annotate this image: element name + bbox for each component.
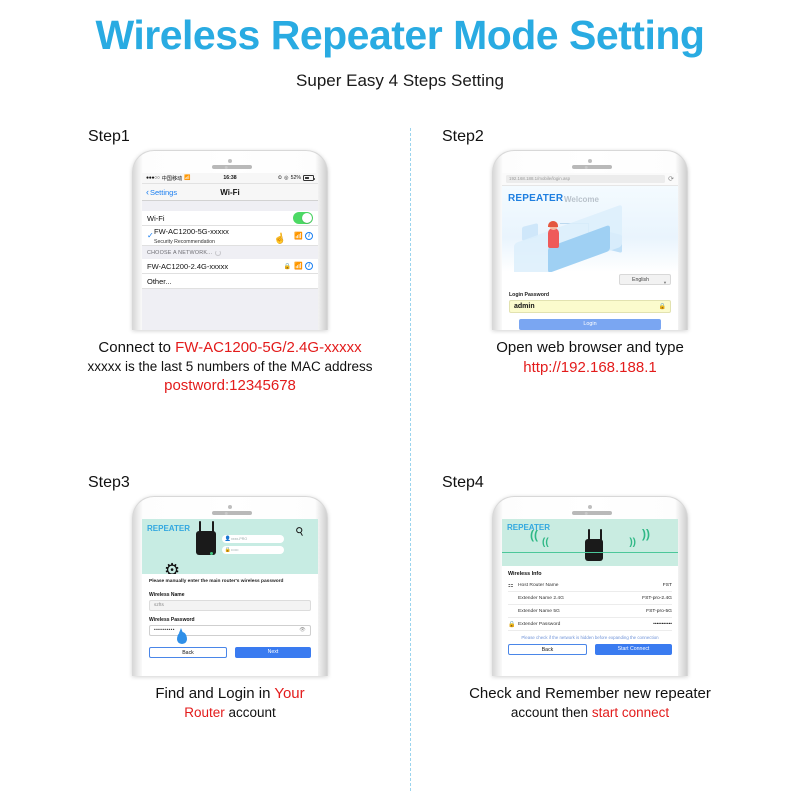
wireless-name-input[interactable]: szfts <box>149 600 311 611</box>
router-icon: ⚏ <box>508 582 517 589</box>
mini-username-value: xxxx-PRO <box>231 537 247 541</box>
extender-device-icon <box>196 531 216 555</box>
browser-address-bar: 192.168.188.1/mobile/login.asp ⟳ <box>502 173 678 186</box>
login-form: English ▼ Login Password admin 🔒 Login <box>502 272 678 330</box>
user-icon: 👤 <box>225 536 231 542</box>
list-gap <box>142 201 318 211</box>
login-password-input[interactable]: admin 🔒 <box>509 300 671 313</box>
reload-icon[interactable]: ⟳ <box>668 175 674 183</box>
wifi-signal-icon: 📶 <box>294 262 303 270</box>
caption-red-ssid: FW-AC1200-5G/2.4G-xxxxx <box>175 339 361 356</box>
welcome-label: Welcome <box>564 195 599 204</box>
next-button[interactable]: Next <box>235 647 311 658</box>
sensor-dot-icon <box>225 166 228 169</box>
info-button-row: Back Start Connect <box>508 644 672 655</box>
wifi-toggle-label: Wi-Fi <box>147 214 293 223</box>
tap-pointer-icon <box>177 632 187 644</box>
phone-mockup-step3: REPEATER ⚲ ⚙ 👤 xxxx-PRO 🔒 •••••• <box>132 496 328 676</box>
wireless-name-label: Wireless Name <box>149 592 311 598</box>
step-3-caption: Find and Login in Your Router account <box>60 684 400 722</box>
repeater-brand-label: REPEATER <box>507 523 550 532</box>
lock-icon: 🔒 <box>284 263 291 270</box>
status-led-icon <box>210 552 213 555</box>
step-1-caption: Connect to FW-AC1200-5G/2.4G-xxxxx xxxxx… <box>60 338 400 397</box>
sensor-dot-icon <box>585 166 588 169</box>
choose-network-label: CHOOSE A NETWORK... <box>147 250 212 256</box>
step-1-label: Step1 <box>88 128 400 146</box>
info-value-1: FST-pro-2.4G <box>642 596 672 601</box>
page-title: Wireless Repeater Mode Setting <box>0 14 800 57</box>
caption-account: account <box>225 705 276 720</box>
info-value-0: FST <box>663 583 672 588</box>
page-subtitle: Super Easy 4 Steps Setting <box>0 71 800 91</box>
wireless-password-label: Wireless Password <box>149 617 311 623</box>
language-value: English <box>632 277 649 283</box>
wifi-toggle-switch[interactable] <box>293 212 313 224</box>
login-button[interactable]: Login <box>519 319 661 330</box>
camera-icon <box>228 505 232 509</box>
caption-your: Your <box>274 685 304 702</box>
config-hero-banner: REPEATER ⚲ ⚙ 👤 xxxx-PRO 🔒 •••••• <box>142 519 318 574</box>
info-key-3: Extender Password <box>517 622 653 627</box>
page-header: Wireless Repeater Mode Setting Super Eas… <box>0 0 800 91</box>
info-button[interactable]: i <box>305 232 313 240</box>
eye-icon[interactable]: 👁 <box>299 627 306 633</box>
start-connect-button[interactable]: Start Connect <box>595 644 672 655</box>
mini-password-field[interactable]: 🔒 •••••• <box>222 546 284 554</box>
connected-network-name: FW-AC1200-5G-xxxxx <box>154 227 292 236</box>
step-3-label: Step3 <box>88 474 400 492</box>
caption-open-browser: Open web browser and type <box>496 339 684 356</box>
phone-screen-step1: ●●●○○ 中国移动 📶 16:38 ⏲ ◎ 52% ‹ <box>142 173 318 330</box>
choose-network-header: CHOOSE A NETWORK... <box>142 246 318 259</box>
back-button[interactable]: Back <box>149 647 227 658</box>
step-4-label: Step4 <box>442 474 760 492</box>
speaker-grille <box>212 165 252 169</box>
caption-start-connect: start connect <box>592 705 669 720</box>
loading-spinner-icon <box>215 250 221 256</box>
login-password-value: admin <box>514 303 535 310</box>
network-name-1: Other... <box>147 277 313 286</box>
phone-screen-step3: REPEATER ⚲ ⚙ 👤 xxxx-PRO 🔒 •••••• <box>142 519 318 676</box>
phone-mockup-step4: REPEATER (( (( )) )) Wireless Info ⚏ Hos… <box>492 496 688 676</box>
connected-network-row[interactable]: ✓ FW-AC1200-5G-xxxxx Security Recommenda… <box>142 226 318 246</box>
network-row-1[interactable]: Other... <box>142 274 318 289</box>
step-4-cell: Step4 REPEATER (( (( )) )) Wireles <box>420 474 760 722</box>
mini-password-value: •••••• <box>231 548 239 552</box>
battery-icon <box>303 175 314 181</box>
network-row-0[interactable]: FW-AC1200-2.4G-xxxxx 🔒 📶 i <box>142 259 318 274</box>
wifi-toggle-row[interactable]: Wi-Fi <box>142 211 318 226</box>
phone-screen-step4: REPEATER (( (( )) )) Wireless Info ⚏ Hos… <box>502 519 678 676</box>
step-4-caption: Check and Remember new repeater account … <box>420 684 760 722</box>
info-value-2: FST-pro-5G <box>646 609 672 614</box>
alarm-icon: ⏲ <box>278 175 282 182</box>
caption-router-account: Router account <box>60 704 400 722</box>
config-button-row: Back Next <box>149 647 311 658</box>
password-icon: 🔒 <box>508 621 517 628</box>
wireless-password-value: •••••••••• <box>154 628 175 633</box>
camera-icon <box>588 159 592 163</box>
phone-screen-step2: 192.168.188.1/mobile/login.asp ⟳ REPEATE… <box>502 173 678 330</box>
repeater-brand-label: REPEATER <box>508 193 563 204</box>
wifi-settings-list: Wi-Fi ✓ FW-AC1200-5G-xxxxx Security Reco… <box>142 201 318 330</box>
signal-wave-right-inner-icon: )) <box>629 537 636 548</box>
info-key-2: Extender Name 5G <box>517 609 646 614</box>
extender-device-icon <box>585 539 603 561</box>
signal-wave-right-icon: )) <box>642 527 650 541</box>
step-3-cell: Step3 REPEATER ⚲ ⚙ 👤 xxxx-PRO <box>60 474 400 722</box>
speaker-grille <box>572 511 612 515</box>
mini-username-field[interactable]: 👤 xxxx-PRO <box>222 535 284 543</box>
chevron-down-icon: ▼ <box>663 278 667 288</box>
login-password-label: Login Password <box>509 292 671 298</box>
horizon-line <box>502 552 678 553</box>
wireless-name-value: szfts <box>154 603 164 608</box>
signal-dots-icon: ●●●○○ <box>146 175 160 181</box>
speaker-grille <box>572 165 612 169</box>
info-key-0: Host Router Name <box>517 583 663 588</box>
lock-icon: 🔒 <box>659 303 666 310</box>
caption-start-connect-line: account then start connect <box>420 704 760 722</box>
camera-icon <box>228 159 232 163</box>
gear-icon: ⚙ <box>164 560 180 574</box>
sensor-dot-icon <box>225 512 228 515</box>
phone-mockup-step2: 192.168.188.1/mobile/login.asp ⟳ REPEATE… <box>492 150 688 330</box>
caption-password: postword:12345678 <box>60 376 400 396</box>
rotation-lock-icon: ◎ <box>284 175 289 181</box>
isometric-illustration <box>502 208 678 272</box>
back-button[interactable]: Back <box>508 644 587 655</box>
info-value-3: ••••••••••• <box>653 622 672 627</box>
url-input[interactable]: 192.168.188.1/mobile/login.asp <box>506 175 665 183</box>
table-row: Extender Name 2.4G FST-pro-2.4G <box>508 592 672 605</box>
lock-icon: 🔒 <box>225 547 231 553</box>
camera-icon <box>588 505 592 509</box>
caption-router: Router <box>184 705 225 720</box>
sensor-dot-icon <box>585 512 588 515</box>
wireless-info-panel: Wireless Info ⚏ Host Router Name FST Ext… <box>502 566 678 655</box>
steps-grid: Step1 ●●●○○ 中国移动 📶 16:38 ⏲ ◎ 52% <box>60 128 760 793</box>
wifi-icon: 📶 <box>184 175 190 181</box>
caption-url: http://192.168.188.1 <box>420 358 760 378</box>
caption-black-1: Connect to <box>98 339 175 356</box>
repeater-brand-label: REPEATER <box>147 524 190 533</box>
signal-wave-left-icon: (( <box>530 528 538 542</box>
hidden-network-note: Please check if the network is hidden be… <box>511 635 669 642</box>
login-hero-banner: REPEATER Welcome <box>502 186 678 272</box>
table-row: ⚏ Host Router Name FST <box>508 579 672 592</box>
speaker-grille <box>212 511 252 515</box>
caption-check-remember: Check and Remember new repeater <box>469 685 711 702</box>
step-2-caption: Open web browser and type http://192.168… <box>420 338 760 379</box>
config-form: Please manually enter the main router's … <box>142 574 318 663</box>
clock-label: 16:38 <box>223 175 236 181</box>
caption-find-login: Find and Login in <box>155 685 274 702</box>
step-2-cell: Step2 192.168.188.1/mobile/login.asp ⟳ R… <box>420 128 760 379</box>
network-name-0: FW-AC1200-2.4G-xxxxx <box>147 262 284 271</box>
checkmark-icon: ✓ <box>147 231 154 240</box>
carrier-label: 中国移动 <box>162 175 183 182</box>
wifi-signal-icon: 📶 <box>294 232 303 240</box>
signal-wave-left-inner-icon: (( <box>542 537 549 548</box>
info-hero-banner: REPEATER (( (( )) )) <box>502 519 678 566</box>
wireless-password-input[interactable]: •••••••••• 👁 <box>149 625 311 636</box>
table-row: Extender Name 5G FST-pro-5G <box>508 605 672 618</box>
info-key-1: Extender Name 2.4G <box>517 596 642 601</box>
ios-status-bar: ●●●○○ 中国移动 📶 16:38 ⏲ ◎ 52% <box>142 173 318 184</box>
step-2-label: Step2 <box>442 128 760 146</box>
info-button[interactable]: i <box>305 262 313 270</box>
caption-account-then: account then <box>511 705 592 720</box>
vertical-divider <box>410 128 411 791</box>
step-1-cell: Step1 ●●●○○ 中国移动 📶 16:38 ⏲ ◎ 52% <box>60 128 400 397</box>
config-hint-text: Please manually enter the main router's … <box>149 579 311 586</box>
connected-network-subtitle: Security Recommendation <box>154 239 215 245</box>
phone-mockup-step1: ●●●○○ 中国移动 📶 16:38 ⏲ ◎ 52% ‹ <box>132 150 328 330</box>
wireless-info-title: Wireless Info <box>508 571 672 577</box>
cursor-hand-icon: ☝ <box>273 233 287 246</box>
caption-mac-note: xxxxx is the last 5 numbers of the MAC a… <box>60 358 400 376</box>
key-icon: ⚲ <box>293 524 306 539</box>
ios-nav-bar: ‹ Settings Wi-Fi <box>142 184 318 201</box>
table-row: 🔒 Extender Password ••••••••••• <box>508 618 672 631</box>
nav-title: Wi-Fi <box>142 188 318 197</box>
language-select[interactable]: English ▼ <box>619 274 671 285</box>
battery-percent-label: 52% <box>291 175 301 181</box>
